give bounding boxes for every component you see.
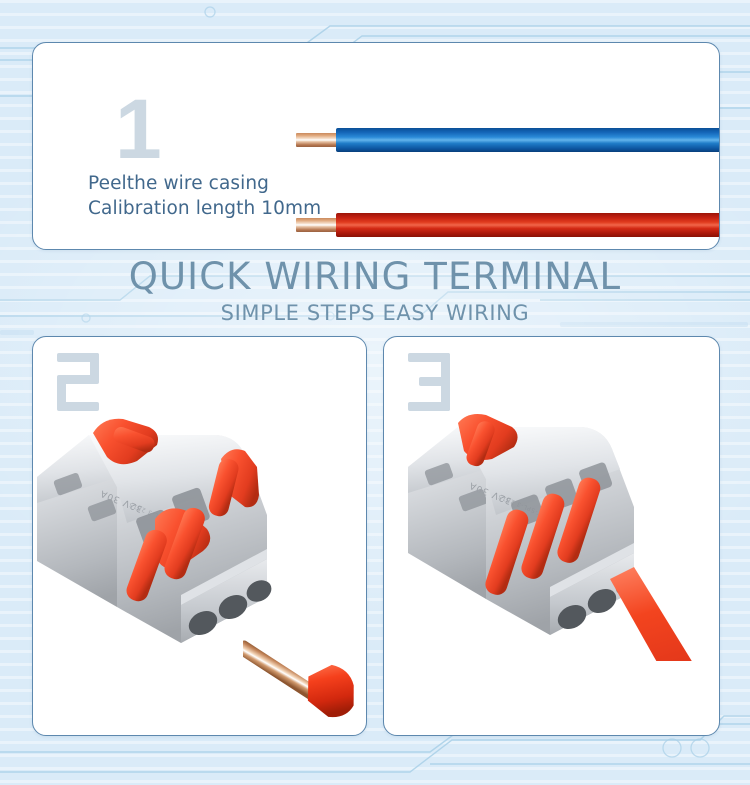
blue-wire-sheath: [336, 128, 720, 152]
step-number-1: 1: [115, 87, 160, 171]
step-number-2: [55, 351, 101, 413]
blue-wire-copper-conductor: [296, 133, 338, 147]
step-card-3: 32V 30A PCT-SPL-3 2815: [383, 336, 720, 736]
step-number-3: [406, 351, 452, 413]
wire-connector-closed: 32V 30A PCT-SPL-3 2815: [384, 411, 714, 661]
heading-block: QUICK WIRING TERMINAL SIMPLE STEPS EASY …: [0, 256, 750, 327]
page-subtitle: SIMPLE STEPS EASY WIRING: [0, 299, 750, 327]
infographic-canvas: 1 Peelthe wire casing Calibration length…: [0, 0, 750, 785]
inserted-red-wire: [610, 567, 714, 661]
page-title: QUICK WIRING TERMINAL: [0, 256, 750, 298]
step-card-2: 32V 30A PCT-SPL-3 2815: [32, 336, 367, 736]
step-card-1: 1 Peelthe wire casing Calibration length…: [32, 42, 720, 250]
ferrule-wire-tip: [304, 663, 357, 720]
step-1-caption: Peelthe wire casing Calibration length 1…: [88, 171, 321, 221]
red-wire-sheath: [336, 213, 720, 237]
ferrule-wire: [243, 617, 367, 735]
